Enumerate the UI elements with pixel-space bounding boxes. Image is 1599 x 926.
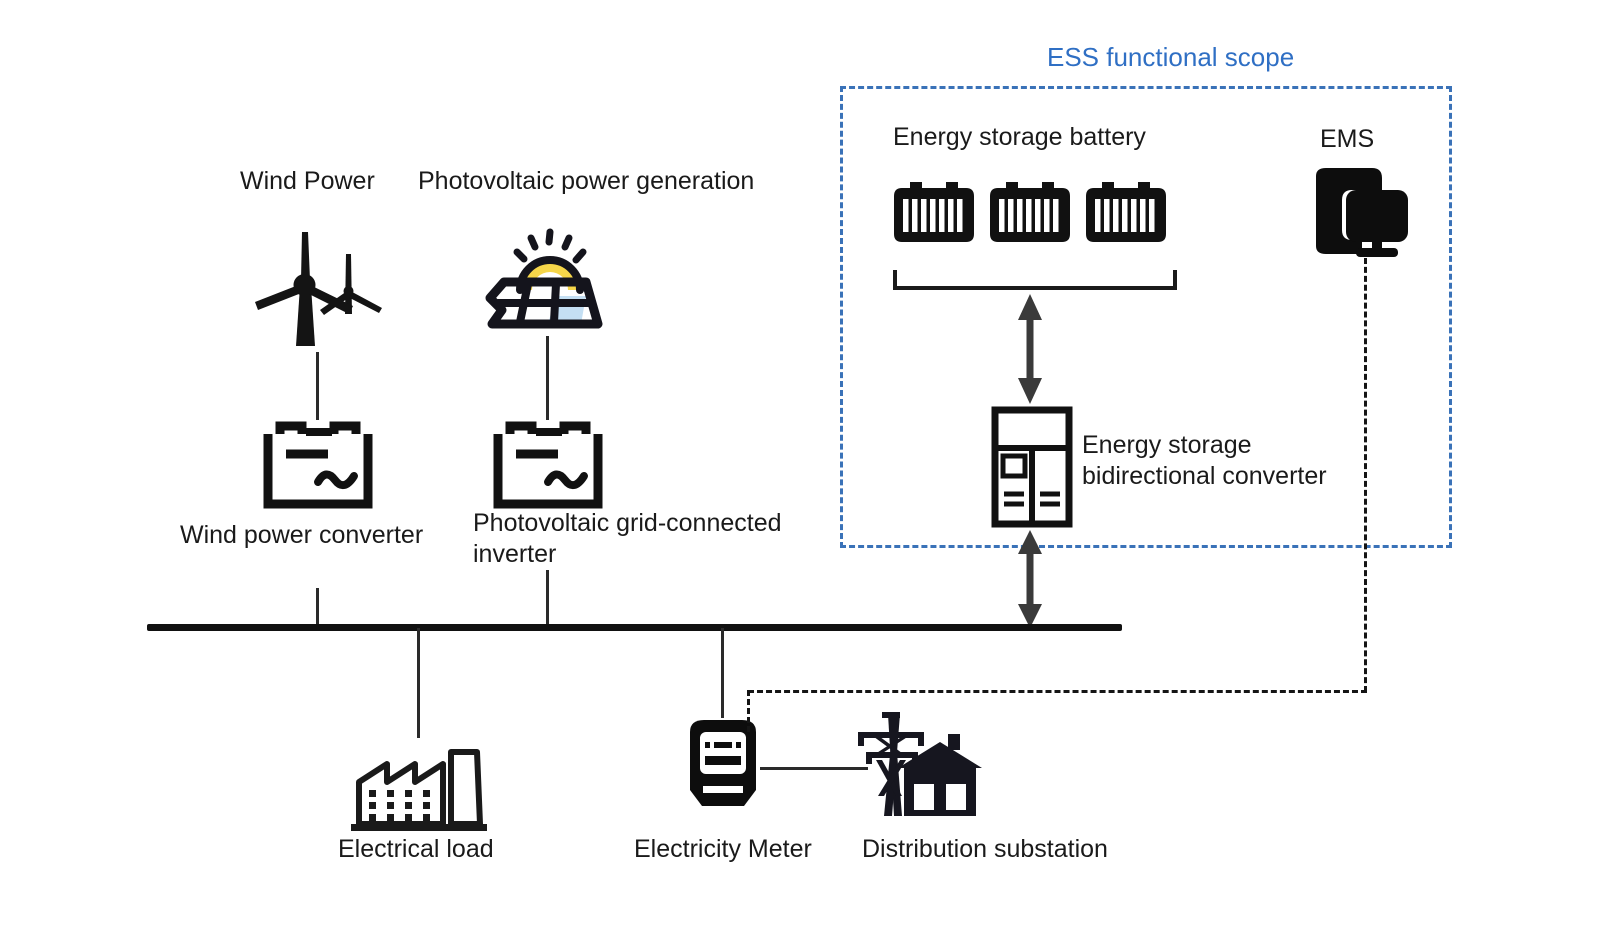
pv-grid-connected-inverter-label: Photovoltaic grid-connected inverter bbox=[473, 508, 813, 570]
wind-power-label: Wind Power bbox=[240, 166, 375, 197]
ac-busbar bbox=[147, 624, 1122, 631]
computer-icon bbox=[1310, 168, 1412, 258]
ems-label: EMS bbox=[1320, 124, 1374, 155]
battery-icon bbox=[890, 178, 978, 246]
battery-icon bbox=[1082, 178, 1170, 246]
electricity-meter-label: Electricity Meter bbox=[634, 834, 812, 865]
pv-panel-to-inverter-wire bbox=[546, 336, 549, 420]
ems-comm-line-horizontal bbox=[748, 690, 1367, 693]
wind-converter-to-bus-wire bbox=[316, 588, 319, 628]
pv-generation-label: Photovoltaic power generation bbox=[418, 166, 754, 197]
bidirectional-converter-label: Energy storage bidirectional converter bbox=[1082, 430, 1382, 492]
pv-inverter-to-bus-wire bbox=[546, 570, 549, 628]
ems-comm-line-to-meter bbox=[747, 690, 750, 732]
energy-storage-battery-label: Energy storage battery bbox=[893, 122, 1146, 153]
bus-to-meter-wire bbox=[721, 628, 724, 718]
ess-scope-title: ESS functional scope bbox=[1047, 42, 1294, 73]
bus-to-load-wire bbox=[417, 628, 420, 738]
substation-pylon-icon bbox=[852, 704, 984, 820]
converter-bus-bidirectional-arrow bbox=[1008, 528, 1052, 635]
diagram-canvas: ESS functional scope Wind Power bbox=[0, 0, 1599, 926]
factory-icon bbox=[349, 740, 489, 834]
wind-turbine-to-converter-wire bbox=[316, 352, 319, 420]
battery-icon bbox=[986, 178, 1074, 246]
battery-converter-bidirectional-arrow bbox=[1008, 292, 1052, 411]
ems-comm-line-vertical bbox=[1364, 258, 1367, 692]
solar-panel-icon bbox=[478, 224, 613, 334]
wind-power-converter-label: Wind power converter bbox=[180, 520, 423, 551]
converter-cabinet-icon bbox=[991, 406, 1073, 528]
distribution-substation-label: Distribution substation bbox=[862, 834, 1108, 865]
wind-turbine-icon bbox=[252, 228, 377, 353]
power-converter-icon bbox=[262, 420, 374, 510]
power-converter-icon bbox=[492, 420, 604, 510]
electrical-load-label: Electrical load bbox=[338, 834, 494, 865]
